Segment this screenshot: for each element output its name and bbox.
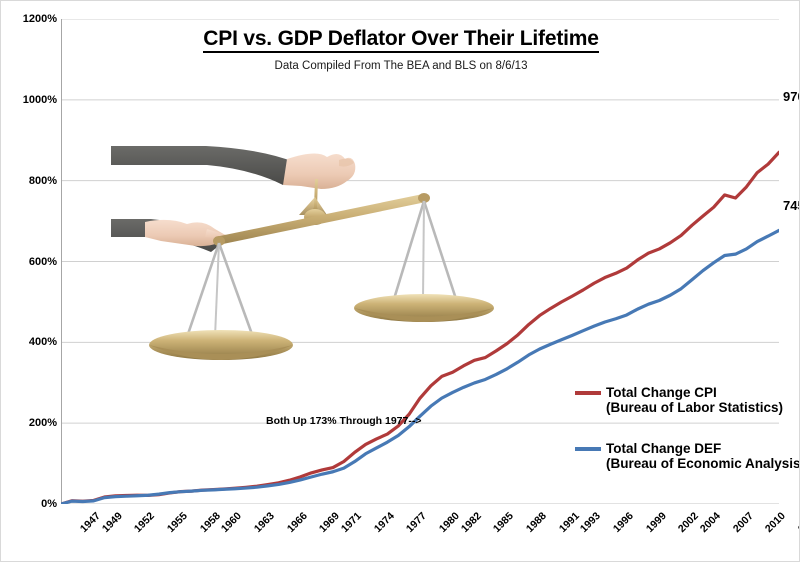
x-tick-label: 2004 (698, 510, 723, 535)
x-tick-label: 1966 (285, 510, 310, 535)
line-swatch-red-icon (575, 391, 601, 395)
line-swatch-blue-icon (575, 447, 601, 451)
annotation-1977: Both Up 173% Through 1977--> (266, 415, 421, 427)
x-tick-label: 1988 (524, 510, 549, 535)
y-tick-label: 1200% (3, 13, 57, 25)
x-tick-label: 1971 (339, 510, 364, 535)
y-tick-label: 1000% (3, 94, 57, 106)
legend-label-deflator: Total Change DEF (606, 441, 721, 456)
x-tick-label: 1955 (165, 510, 190, 535)
legend-sublabel-deflator: (Bureau of Economic Analysis) (606, 456, 800, 471)
chart-legend: Total Change CPI (Bureau of Labor Statis… (575, 385, 800, 497)
plot-area: 970% 745% Both Up 173% Through 1977--> T… (61, 19, 779, 504)
legend-sublabel-cpi: (Bureau of Labor Statistics) (606, 400, 800, 415)
x-tick-label: 1952 (132, 510, 157, 535)
x-tick-label: 1977 (404, 510, 429, 535)
y-axis: 0%200%400%600%800%1000%1200% (1, 19, 57, 504)
x-tick-label: 1991 (556, 510, 581, 535)
x-tick-label: 1999 (644, 510, 669, 535)
y-tick-label: 0% (3, 498, 57, 510)
x-tick-label: 1996 (611, 510, 636, 535)
x-tick-label: 2002 (676, 510, 701, 535)
legend-entry-cpi[interactable]: Total Change CPI (Bureau of Labor Statis… (575, 385, 800, 415)
x-tick-label: 1985 (491, 510, 516, 535)
x-tick-label: 2007 (731, 510, 756, 535)
y-tick-label: 400% (3, 336, 57, 348)
x-tick-label: 1963 (252, 510, 277, 535)
deflator-end-value-label: 745% (783, 198, 800, 213)
x-tick-label: 1993 (578, 510, 603, 535)
x-axis: 1947194919521955195819601963196619691971… (61, 504, 779, 562)
legend-label-cpi: Total Change CPI (606, 385, 717, 400)
x-tick-label: 2010 (763, 510, 788, 535)
cpi-end-value-label: 970% (783, 89, 800, 104)
x-tick-label: 1969 (317, 510, 342, 535)
y-tick-label: 600% (3, 256, 57, 268)
y-tick-label: 800% (3, 175, 57, 187)
chart-container: CPI vs. GDP Deflator Over Their Lifetime… (0, 0, 800, 562)
x-tick-label: 1982 (459, 510, 484, 535)
x-tick-label: 2013 (796, 510, 800, 535)
legend-entry-deflator[interactable]: Total Change DEF (Bureau of Economic Ana… (575, 441, 800, 471)
x-tick-label: 1980 (437, 510, 462, 535)
y-tick-label: 200% (3, 417, 57, 429)
x-tick-label: 1960 (219, 510, 244, 535)
x-tick-label: 1958 (197, 510, 222, 535)
x-tick-label: 1974 (372, 510, 397, 535)
x-tick-label: 1947 (78, 510, 103, 535)
x-tick-label: 1949 (100, 510, 125, 535)
